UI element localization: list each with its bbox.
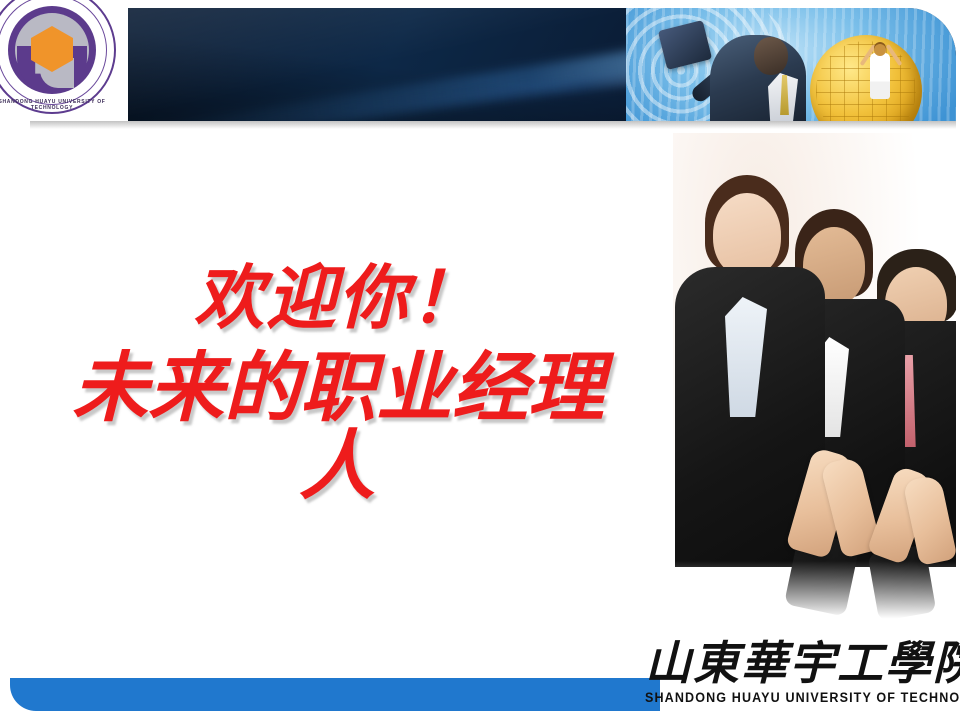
photo-bottom-fade [673, 561, 956, 641]
celebrating-woman-figure [870, 53, 890, 99]
university-seal-logo: 山东华宇工学院 SHANDONG HUAYU UNIVERSITY OF TEC… [0, 0, 116, 114]
presentation-slide: 山东华宇工学院 SHANDONG HUAYU UNIVERSITY OF TEC… [0, 0, 960, 720]
business-success-collage [626, 8, 956, 121]
slide-title-block: 欢迎你！ 未来的职业经理 人 [18, 262, 658, 504]
woman-front-head [713, 193, 781, 277]
title-line-welcome: 欢迎你！ [18, 262, 658, 333]
wordmark-chinese: 山東華宇工學院 [645, 640, 957, 686]
businessman-head [754, 37, 788, 75]
wordmark-english: SHANDONG HUAYU UNIVERSITY OF TECHNOLOGY [645, 690, 935, 705]
blue-footer-bar [10, 678, 660, 711]
title-line-future-manager: 未来的职业经理 [18, 349, 658, 427]
title-line-person: 人 [18, 427, 658, 505]
seal-chinese-text: 山东华宇工学院 [0, 0, 116, 1]
person-woman-front [679, 167, 811, 567]
header-drop-shadow [30, 121, 956, 129]
applauding-business-team-photo [673, 133, 956, 641]
header-banner [128, 8, 956, 121]
university-wordmark: 山東華宇工學院 SHANDONG HUAYU UNIVERSITY OF TEC… [645, 640, 957, 716]
seal-english-text: SHANDONG HUAYU UNIVERSITY OF TECHNOLOGY [0, 99, 116, 111]
